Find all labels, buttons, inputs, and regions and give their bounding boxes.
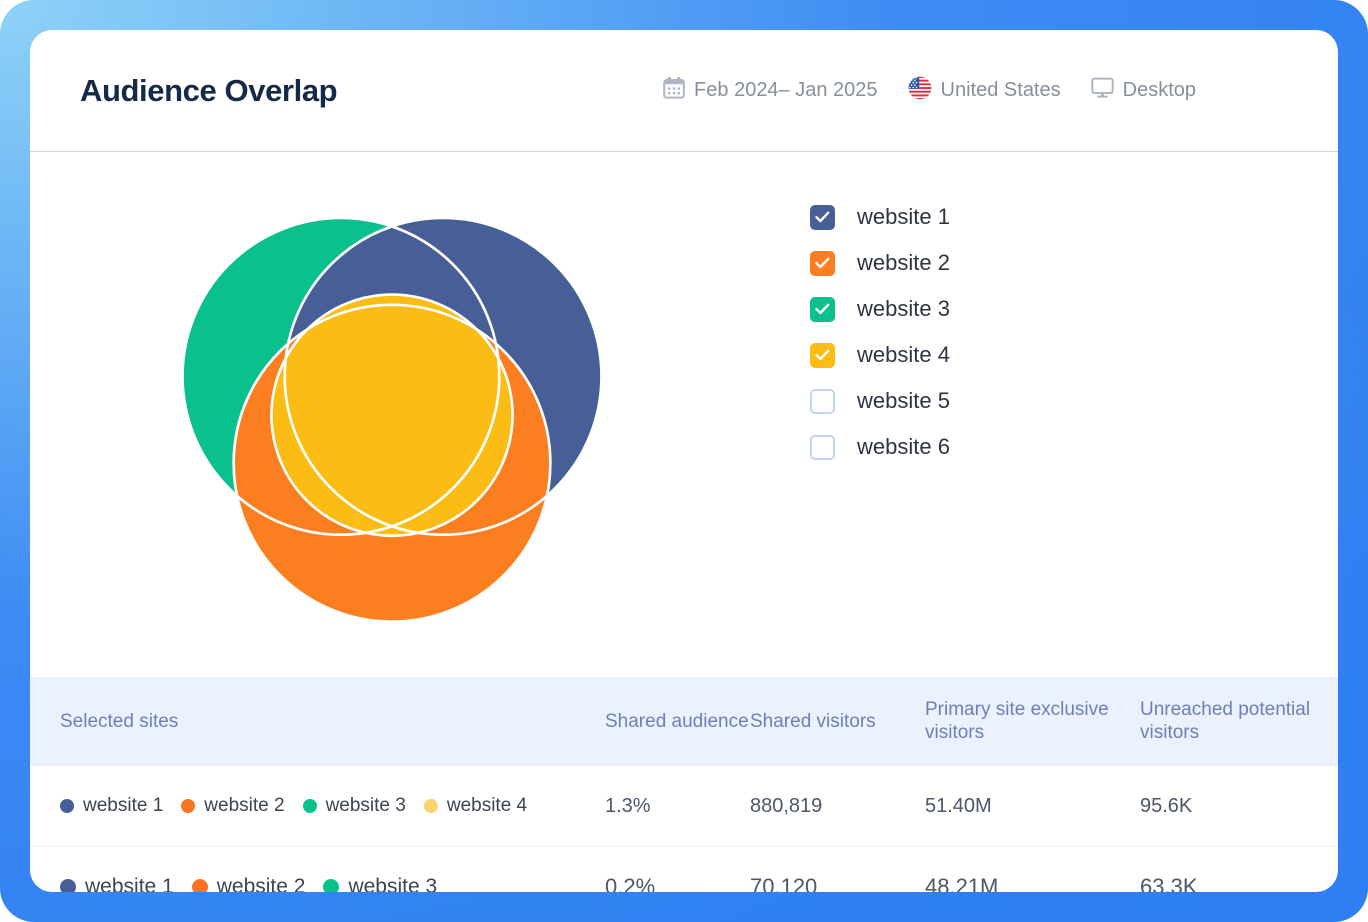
row-shared-visitors: 70,120	[750, 874, 925, 892]
site-chip: website 2	[192, 875, 306, 892]
site-chip: website 1	[60, 875, 174, 892]
venn-svg	[142, 172, 642, 642]
row-unreached-potential-visitors: 63.3K	[1140, 874, 1338, 892]
site-chip: website 3	[303, 795, 406, 817]
column-header-shared-visitors: Shared visitors	[750, 710, 925, 733]
site-chip-label: website 2	[204, 795, 284, 817]
site-chip-label: website 3	[326, 795, 406, 817]
legend-item-website-1[interactable]: website 1	[810, 204, 950, 230]
site-dot	[192, 879, 208, 892]
row-shared-audience: 0.2%	[605, 874, 750, 892]
site-chip-label: website 1	[83, 795, 163, 817]
site-dot	[323, 879, 339, 892]
site-dot	[181, 799, 195, 813]
legend-item-website-4[interactable]: website 4	[810, 342, 950, 368]
legend-label-website-2: website 2	[857, 250, 950, 276]
filter-date-range-label: Feb 2024– Jan 2025	[694, 79, 878, 102]
site-chip: website 4	[424, 795, 527, 817]
website-legend: website 1 website 2 website 3	[810, 204, 950, 460]
legend-item-website-6[interactable]: website 6	[810, 434, 950, 460]
audience-overlap-card: Audience Overlap	[30, 30, 1338, 892]
row-primary-exclusive-visitors: 51.40M	[925, 795, 1140, 818]
row-selected-sites: website 1 website 2 website 3	[60, 875, 605, 892]
overlap-table: Selected sites Shared audience Shared vi…	[30, 677, 1338, 892]
filter-bar: Feb 2024– Jan 2025	[663, 76, 1288, 106]
card-header: Audience Overlap	[30, 30, 1338, 152]
filter-country[interactable]: United States	[908, 76, 1061, 106]
table-header-row: Selected sites Shared audience Shared vi…	[30, 677, 1338, 765]
page-background: Audience Overlap	[0, 0, 1368, 922]
site-chip: website 3	[323, 875, 437, 892]
legend-item-website-2[interactable]: website 2	[810, 250, 950, 276]
legend-item-website-5[interactable]: website 5	[810, 388, 950, 414]
calendar-icon	[663, 76, 685, 105]
column-header-primary-exclusive: Primary site exclusive visitors	[925, 698, 1140, 744]
site-chip-label: website 2	[217, 875, 306, 892]
row-unreached-potential-visitors: 95.6K	[1140, 795, 1338, 818]
site-dot	[424, 799, 438, 813]
legend-label-website-6: website 6	[857, 434, 950, 460]
legend-label-website-1: website 1	[857, 204, 950, 230]
checkbox-website-1[interactable]	[810, 205, 835, 230]
checkbox-website-6[interactable]	[810, 435, 835, 460]
column-header-shared-audience: Shared audience	[605, 710, 750, 733]
page-title: Audience Overlap	[80, 73, 337, 109]
site-chip: website 2	[181, 795, 284, 817]
column-header-selected-sites: Selected sites	[60, 710, 605, 733]
checkbox-website-4[interactable]	[810, 343, 835, 368]
card-body: website 1 website 2 website 3	[30, 152, 1338, 677]
venn-diagram[interactable]	[142, 172, 642, 642]
row-primary-exclusive-visitors: 48.21M	[925, 874, 1140, 892]
filter-country-label: United States	[941, 79, 1061, 102]
legend-label-website-3: website 3	[857, 296, 950, 322]
site-dot	[60, 799, 74, 813]
checkbox-website-3[interactable]	[810, 297, 835, 322]
site-dot	[60, 879, 76, 892]
row-shared-audience: 1.3%	[605, 795, 750, 818]
checkbox-website-5[interactable]	[810, 389, 835, 414]
site-chip: website 1	[60, 795, 163, 817]
site-dot	[303, 799, 317, 813]
site-chip-label: website 1	[85, 875, 174, 892]
us-flag-icon	[908, 76, 932, 106]
row-selected-sites: website 1 website 2 website 3 website 4	[60, 795, 605, 817]
row-shared-visitors: 880,819	[750, 795, 925, 818]
site-chip-label: website 4	[447, 795, 527, 817]
filter-device-label: Desktop	[1123, 79, 1196, 102]
column-header-unreached-potential: Unreached potential visitors	[1140, 698, 1338, 744]
table-row[interactable]: website 1 website 2 website 3 website 4	[30, 765, 1338, 846]
legend-label-website-4: website 4	[857, 342, 950, 368]
filter-device[interactable]: Desktop	[1091, 76, 1196, 105]
desktop-monitor-icon	[1091, 76, 1114, 105]
legend-label-website-5: website 5	[857, 388, 950, 414]
site-chip-label: website 3	[348, 875, 437, 892]
checkbox-website-2[interactable]	[810, 251, 835, 276]
filter-date-range[interactable]: Feb 2024– Jan 2025	[663, 76, 878, 105]
legend-item-website-3[interactable]: website 3	[810, 296, 950, 322]
table-row[interactable]: website 1 website 2 website 3 0.2% 70,12…	[30, 846, 1338, 892]
